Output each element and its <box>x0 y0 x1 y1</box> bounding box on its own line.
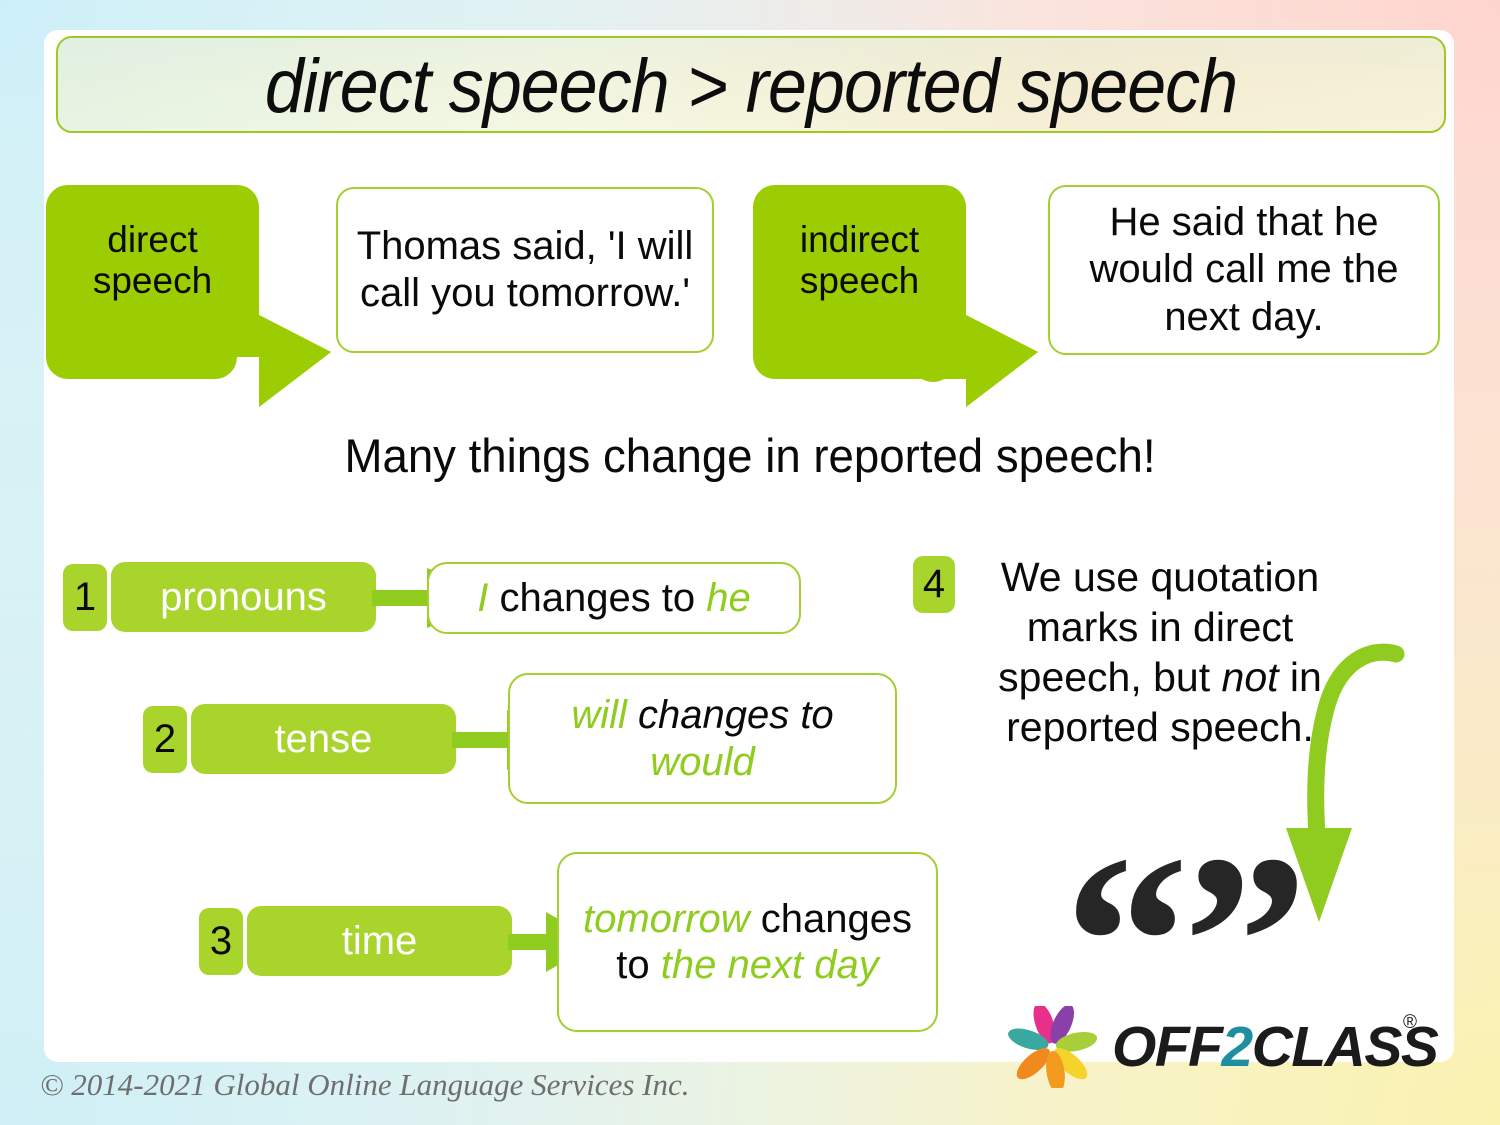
curved-arrow-icon <box>1248 640 1428 930</box>
logo-word-off: OFF <box>1112 1015 1221 1079</box>
item-2-tag: tense <box>191 704 456 774</box>
section-heading: Many things change in reported speech! <box>23 428 1478 483</box>
copyright-footer: © 2014-2021 Global Online Language Servi… <box>40 1067 689 1103</box>
callout-indirect-speech: indirect speech <box>753 185 1038 407</box>
logo-wordmark: OFF2CLASS <box>1112 1014 1437 1080</box>
logo-flower-icon <box>1000 1006 1104 1088</box>
item-3-result-text: tomorrow changes to the next day <box>571 896 924 989</box>
callout-indirect-speech-label: indirect speech <box>753 219 966 302</box>
item-2-number: 2 <box>143 706 187 773</box>
logo-registered-mark: ® <box>1403 1012 1417 1034</box>
item-1-number: 1 <box>63 564 107 631</box>
page-title: direct speech > reported speech <box>113 38 1388 133</box>
callout-direct-speech: direct speech <box>46 185 331 407</box>
off2class-logo: OFF2CLASS ® <box>1000 1006 1440 1088</box>
item-2-result-text: will changes to would <box>522 692 883 785</box>
item-3-tag: time <box>247 906 512 976</box>
indirect-speech-example-text: He said that he would call me the next d… <box>1064 199 1424 341</box>
item-2-result: will changes to would <box>508 673 897 804</box>
indirect-speech-example-box: He said that he would call me the next d… <box>1048 185 1440 355</box>
item-4-number: 4 <box>913 556 955 613</box>
title-plate: direct speech > reported speech <box>56 36 1446 133</box>
callout-direct-speech-label: direct speech <box>46 219 259 302</box>
item-3-number: 3 <box>199 908 243 975</box>
slide-canvas: direct speech > reported speech direct s… <box>0 0 1500 1125</box>
item-3-result: tomorrow changes to the next day <box>557 852 938 1032</box>
item-1-result: I changes to he <box>427 562 801 634</box>
logo-word-two: 2 <box>1221 1015 1251 1079</box>
item-1-tag: pronouns <box>111 562 376 632</box>
direct-speech-example-box: Thomas said, 'I will call you tomorrow.' <box>336 187 714 353</box>
item-1-result-text: I changes to he <box>477 575 751 621</box>
direct-speech-example-text: Thomas said, 'I will call you tomorrow.' <box>352 223 698 317</box>
